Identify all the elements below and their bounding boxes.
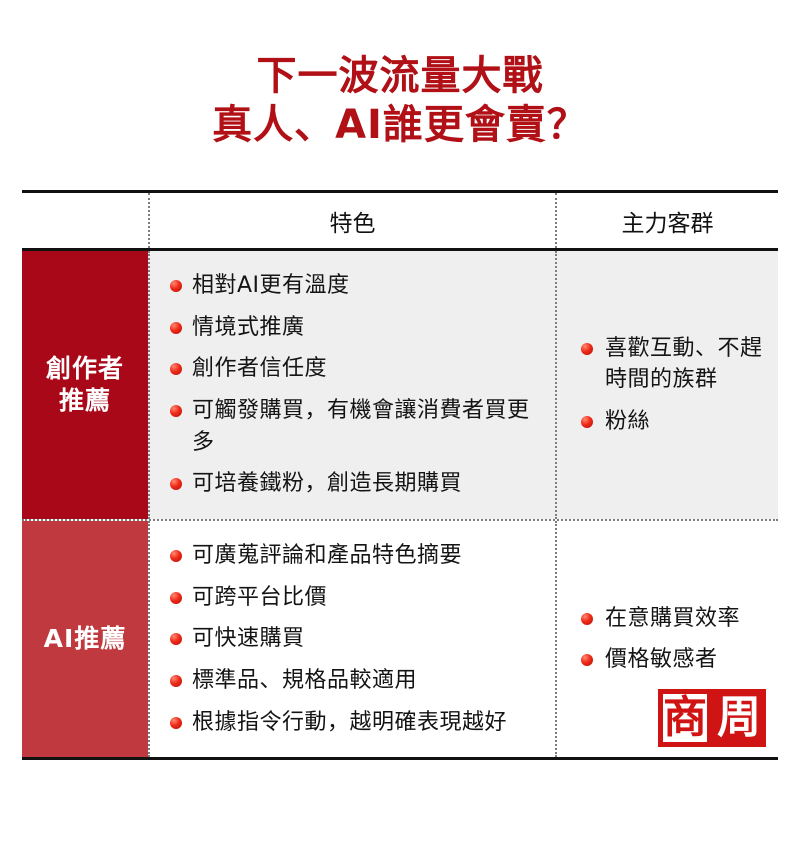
page-title: 下一波流量大戰 真人、AI誰更會賣？ <box>0 0 800 150</box>
list-item: 根據指令行動，越明確表現越好 <box>168 707 545 739</box>
row-label-creator-line1: 創作者 <box>46 353 124 385</box>
header-cell-blank <box>22 193 148 248</box>
table-header-row: 特色 主力客群 <box>22 193 778 251</box>
header-cell-audience: 主力客群 <box>555 193 778 248</box>
logo-char-shang: 商 <box>658 689 712 747</box>
cell-ai-features: 可廣蒐評論和產品特色摘要 可跨平台比價 可快速購買 標準品、規格品較適用 根據指… <box>148 521 555 757</box>
creator-audience-list: 喜歡互動、不趕時間的族群 粉絲 <box>557 251 778 519</box>
ai-feature-list: 可廣蒐評論和產品特色摘要 可跨平台比價 可快速購買 標準品、規格品較適用 根據指… <box>150 521 555 757</box>
cell-creator-features: 相對AI更有溫度 情境式推廣 創作者信任度 可觸發購買，有機會讓消費者買更多 可… <box>148 251 555 519</box>
cell-ai-audience: 在意購買效率 價格敏感者 商 周 <box>555 521 778 757</box>
row-label-creator: 創作者 推薦 <box>22 251 148 519</box>
table-row: 創作者 推薦 相對AI更有溫度 情境式推廣 創作者信任度 可觸發購買，有機會讓消… <box>22 251 778 521</box>
list-item: 喜歡互動、不趕時間的族群 <box>579 333 768 396</box>
list-item: 在意購買效率 <box>579 603 768 635</box>
logo-char-zhou: 周 <box>712 689 766 747</box>
title-line-1: 下一波流量大戰 <box>0 52 800 101</box>
header-feature-label: 特色 <box>150 193 555 248</box>
row-label-ai-text: AI推薦 <box>44 623 127 655</box>
list-item: 情境式推廣 <box>168 312 545 344</box>
header-cell-feature: 特色 <box>148 193 555 248</box>
list-item: 標準品、規格品較適用 <box>168 665 545 697</box>
table-row: AI推薦 可廣蒐評論和產品特色摘要 可跨平台比價 可快速購買 標準品、規格品較適… <box>22 521 778 757</box>
cell-creator-audience: 喜歡互動、不趕時間的族群 粉絲 <box>555 251 778 519</box>
list-item: 可培養鐵粉，創造長期購買 <box>168 468 545 500</box>
list-item: 價格敏感者 <box>579 644 768 676</box>
comparison-table: 特色 主力客群 創作者 推薦 相對AI更有溫度 情境式推廣 創作者信任度 可觸發… <box>22 190 778 760</box>
list-item: 可快速購買 <box>168 623 545 655</box>
list-item: 可觸發購買，有機會讓消費者買更多 <box>168 395 545 458</box>
row-label-creator-line2: 推薦 <box>46 385 124 417</box>
row-label-ai: AI推薦 <box>22 521 148 757</box>
creator-feature-list: 相對AI更有溫度 情境式推廣 創作者信任度 可觸發購買，有機會讓消費者買更多 可… <box>150 251 555 519</box>
list-item: 可跨平台比價 <box>168 582 545 614</box>
header-audience-label: 主力客群 <box>557 193 778 248</box>
list-item: 粉絲 <box>579 406 768 438</box>
business-weekly-logo: 商 周 <box>658 689 766 747</box>
list-item: 相對AI更有溫度 <box>168 270 545 302</box>
list-item: 創作者信任度 <box>168 353 545 385</box>
title-line-2: 真人、AI誰更會賣？ <box>0 101 800 150</box>
list-item: 可廣蒐評論和產品特色摘要 <box>168 540 545 572</box>
